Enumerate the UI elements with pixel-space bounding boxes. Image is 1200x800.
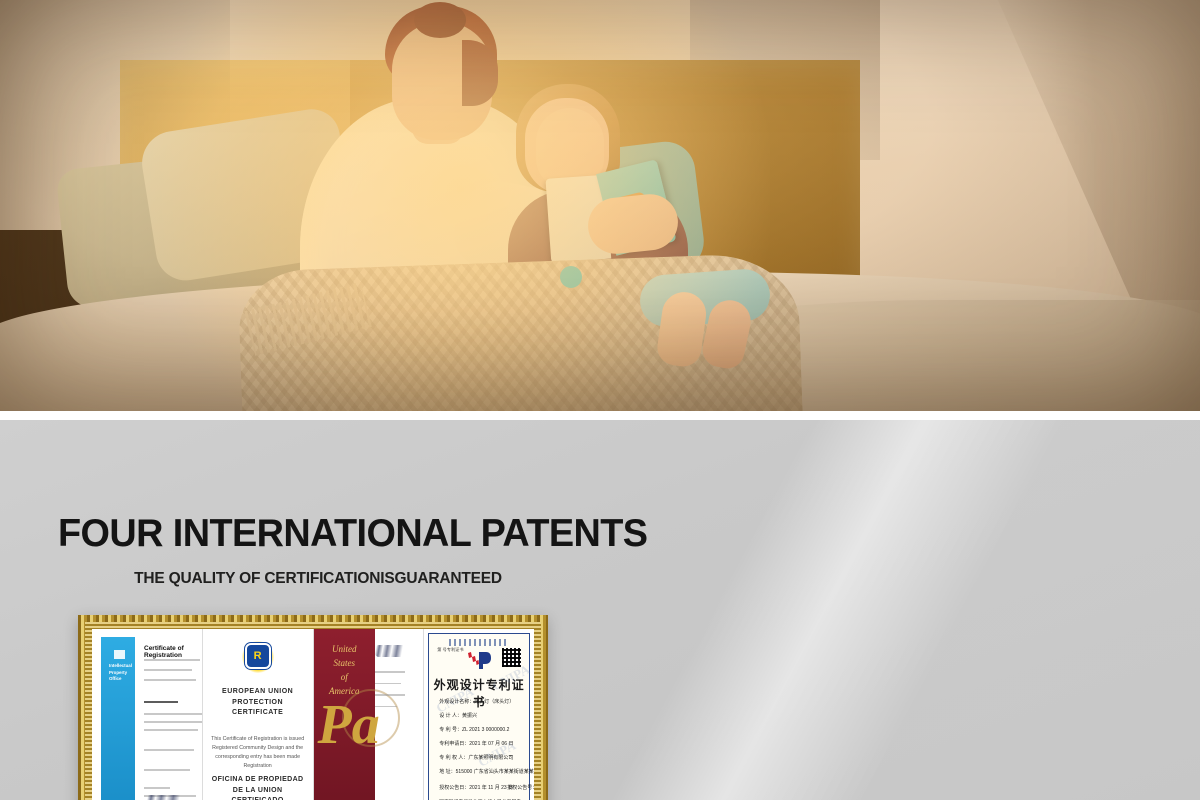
patent-frame: Intellectual Property Office Certificate… — [78, 615, 548, 800]
patents-block: FOUR INTERNATIONAL PATENTS THE QUALITY O… — [0, 420, 610, 800]
eu-body-3: corresponding entry has been made — [215, 754, 300, 760]
uk-signature — [146, 795, 190, 800]
patent-certificates-row: Intellectual Property Office Certificate… — [92, 629, 534, 800]
section-divider — [0, 411, 1200, 420]
cn-field-1: 设 计 人：黄振兴 — [439, 712, 477, 719]
eu-certificate-title-es: OFICINA DE PROPIEDAD DE LA UNION CERTIFI… — [203, 775, 313, 800]
cn-field-2: 专 利 号：ZL 2021 3 0000000.2 — [439, 726, 509, 733]
patents-subheadline: THE QUALITY OF CERTIFICATIONISGUARANTEED — [58, 570, 578, 588]
patent-certificate-uk: Intellectual Property Office Certificate… — [92, 629, 203, 800]
uk-ipo-logo-icon — [114, 650, 125, 659]
us-title-2: States — [333, 658, 355, 668]
us-title-3: of — [341, 672, 348, 682]
hero-scene — [0, 0, 1200, 411]
cn-field-5: 地 址：515000 广东省汕头市某某街道某某路 26 号二层楼 — [439, 768, 534, 775]
euipo-logo-icon: R — [247, 645, 269, 667]
cn-field-6: 授权公告日：2021 年 11 月 23 日 — [439, 784, 513, 791]
eu-title-2: PROTECTION — [232, 699, 283, 706]
vignette — [0, 0, 1200, 411]
patent-certificate-eu: R EUROPEAN UNION PROTECTION CERTIFICATE … — [203, 629, 314, 800]
cn-field-3: 专利申请日：2021 年 07 月 06 日 — [439, 740, 513, 747]
us-wordmark: Pa — [318, 703, 379, 748]
cnipa-logo-icon — [466, 650, 492, 670]
bedtime-reading-photo — [0, 0, 1200, 411]
cn-border: 第 号专利证书 外观设计专利证书 CNIPA CNIPA C — [428, 633, 530, 800]
cn-field-4: 专 利 权 人：广东某照明有限公司 — [439, 754, 513, 761]
patents-headline: FOUR INTERNATIONAL PATENTS — [58, 512, 562, 556]
cn-ornament — [449, 639, 509, 646]
certification-section: FOUR INTERNATIONAL PATENTS THE QUALITY O… — [0, 420, 1200, 800]
eu-title-1: EUROPEAN UNION — [222, 688, 293, 695]
product-detail-page: FOUR INTERNATIONAL PATENTS THE QUALITY O… — [0, 0, 1200, 800]
uk-ipo-sidebar: Intellectual Property Office — [101, 637, 135, 800]
uk-ipo-issuer: Intellectual Property Office — [109, 663, 135, 683]
eu-title-es-1: OFICINA DE PROPIEDAD — [212, 776, 304, 783]
patent-certificate-us: United States of America Pa — [314, 629, 425, 800]
eu-body-2: Registered Community Design and the — [212, 745, 303, 751]
us-signature-block — [375, 645, 419, 717]
eu-title-3: CERTIFICATE — [232, 709, 283, 716]
eu-title-es-2: DE LA UNION — [233, 787, 283, 794]
eu-certificate-title: EUROPEAN UNION PROTECTION CERTIFICATE — [203, 687, 313, 719]
us-title-1: United — [332, 644, 357, 654]
cn-header-note: 第 号专利证书 — [437, 647, 463, 653]
eu-body-1: This Certificate of Registration is issu… — [211, 736, 304, 742]
eu-body-4: Registration — [243, 763, 271, 769]
patent-certificate-cn: 第 号专利证书 外观设计专利证书 CNIPA CNIPA C — [424, 629, 534, 800]
eu-certificate-body: This Certificate of Registration is issu… — [203, 735, 313, 771]
cn-field-0: 外观设计名称：床头灯（床头灯） — [439, 698, 514, 705]
cn-field-7: 授权公告号：CN 000000 S — [507, 784, 534, 791]
uk-certificate-title: Certificate of Registration — [144, 645, 202, 659]
